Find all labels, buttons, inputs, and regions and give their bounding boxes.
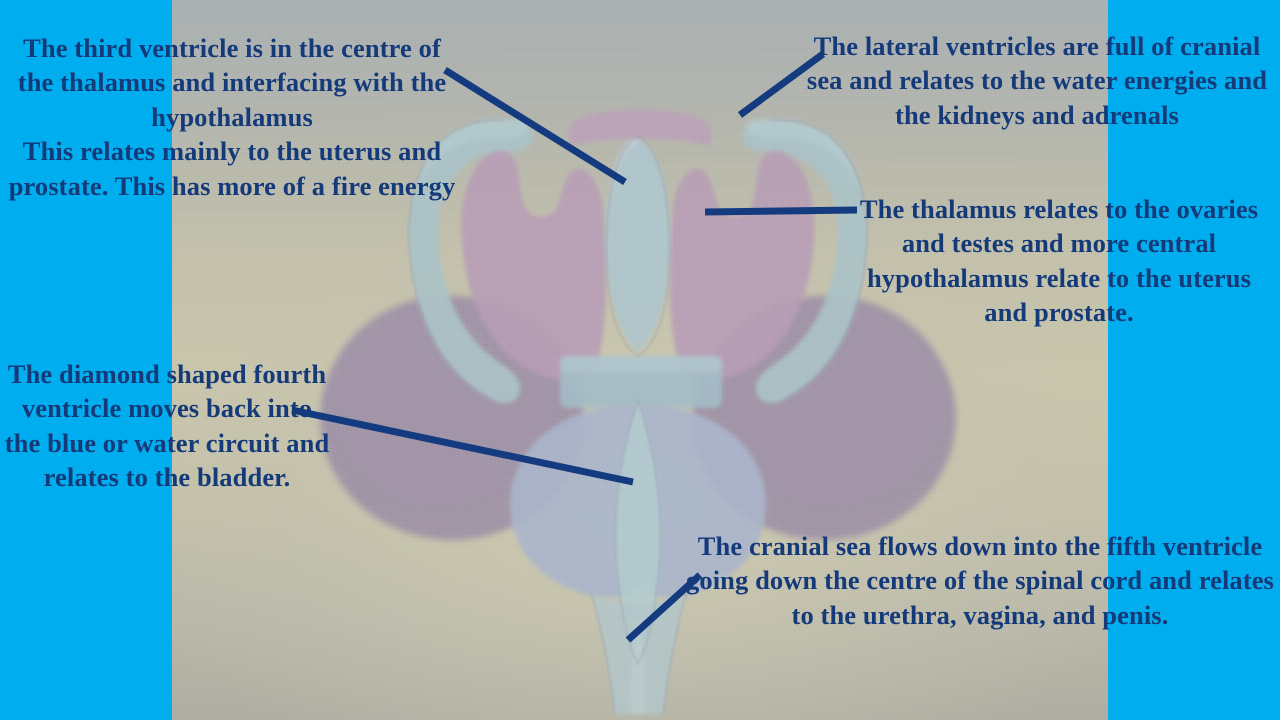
pons-band bbox=[560, 356, 722, 408]
caption-thalamus: The thalamus relates to the ovaries and … bbox=[850, 192, 1268, 330]
caption-fifth-ventricle: The cranial sea flows down into the fift… bbox=[686, 529, 1274, 632]
third-ventricle bbox=[606, 134, 670, 352]
caption-lateral-ventricles: The lateral ventricles are full of crani… bbox=[806, 29, 1268, 132]
caption-third-ventricle: The third ventricle is in the centre of … bbox=[6, 31, 458, 203]
caption-fourth-ventricle: The diamond shaped fourth ventricle move… bbox=[2, 357, 332, 495]
slide-canvas: The third ventricle is in the centre of … bbox=[0, 0, 1280, 720]
